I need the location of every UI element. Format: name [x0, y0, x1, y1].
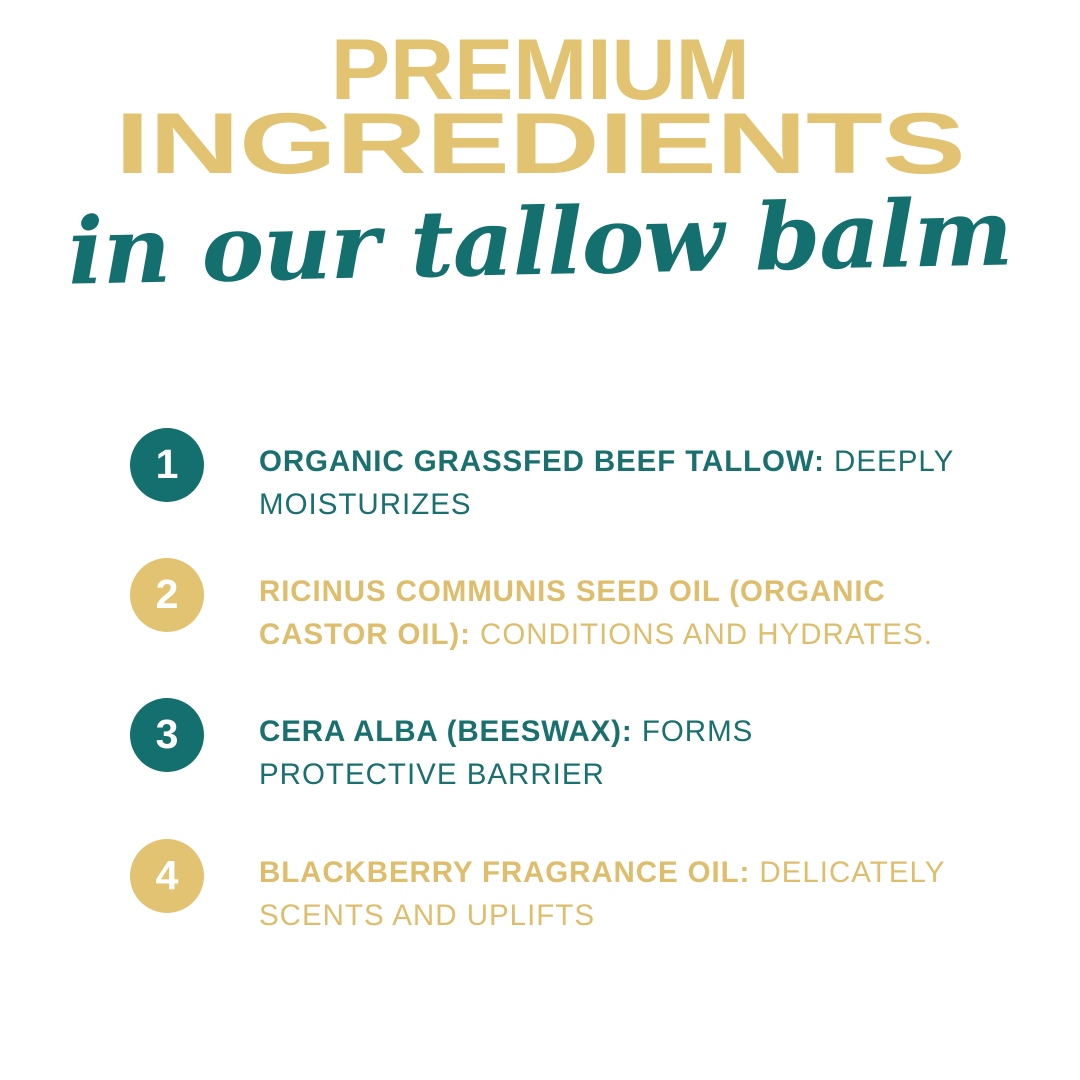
item-number-badge: 2	[130, 558, 204, 632]
item-number-badge: 1	[130, 428, 204, 502]
item-description: ORGANIC GRASSFED BEEF TALLOW: DEEPLY MOI…	[259, 428, 960, 527]
list-item: 1 ORGANIC GRASSFED BEEF TALLOW: DEEPLY M…	[130, 428, 960, 527]
script-subtitle: in our tallow balm	[0, 185, 1080, 300]
page-title: PREMIUM INGREDIENTS	[0, 34, 1080, 180]
item-description: RICINUS COMMUNIS SEED OIL (ORGANIC CASTO…	[259, 558, 960, 657]
item-ingredient-name: CERA ALBA (BEESWAX):	[259, 715, 633, 748]
list-item: 2 RICINUS COMMUNIS SEED OIL (ORGANIC CAS…	[130, 558, 960, 657]
list-item: 4 BLACKBERRY FRAGRANCE OIL: DELICATELY S…	[130, 839, 960, 938]
item-ingredient-name: ORGANIC GRASSFED BEEF TALLOW:	[259, 445, 825, 478]
headline-line-2: INGREDIENTS	[0, 108, 1080, 180]
ingredients-poster: PREMIUM INGREDIENTS in our tallow balm 1…	[0, 0, 1080, 1080]
item-description: BLACKBERRY FRAGRANCE OIL: DELICATELY SCE…	[259, 839, 960, 938]
poster-header: PREMIUM INGREDIENTS	[0, 34, 1080, 180]
item-number-badge: 4	[130, 839, 204, 913]
list-item: 3 CERA ALBA (BEESWAX): FORMS PROTECTIVE …	[130, 698, 960, 797]
item-benefit: CONDITIONS AND HYDRATES.	[480, 618, 933, 651]
item-ingredient-name: BLACKBERRY FRAGRANCE OIL:	[259, 856, 750, 889]
item-number-badge: 3	[130, 698, 204, 772]
item-description: CERA ALBA (BEESWAX): FORMS PROTECTIVE BA…	[259, 698, 960, 797]
